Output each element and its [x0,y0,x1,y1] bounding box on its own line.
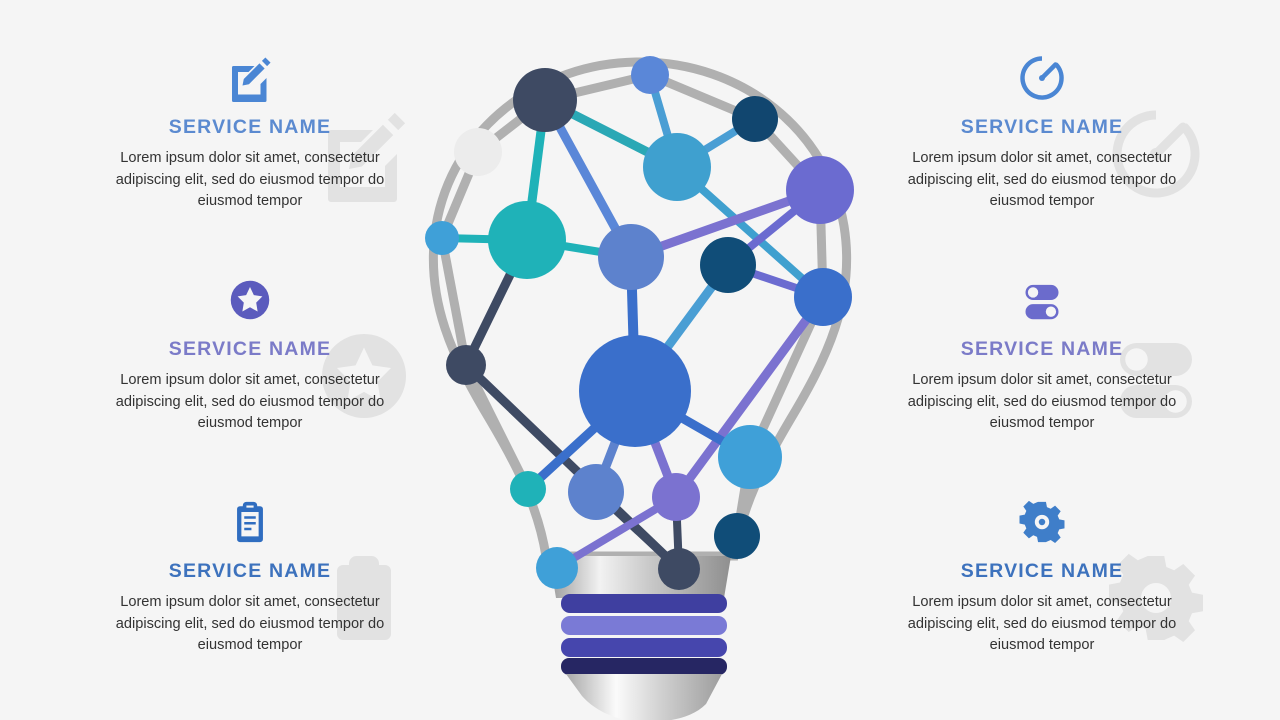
service-block-clipboard[interactable]: SERVICE NAME Lorem ipsum dolor sit amet,… [80,494,420,657]
network-node [652,473,700,521]
service-title: SERVICE NAME [872,560,1212,583]
network-node [794,268,852,326]
network-node [732,96,778,142]
service-description: Lorem ipsum dolor sit amet, consectetur … [80,148,420,213]
toggles-icon [872,272,1212,328]
gear-icon [872,494,1212,550]
service-block-edit[interactable]: SERVICE NAME Lorem ipsum dolor sit amet,… [80,50,420,213]
service-title: SERVICE NAME [80,116,420,139]
network-node [714,513,760,559]
service-block-gear[interactable]: SERVICE NAME Lorem ipsum dolor sit amet,… [872,494,1212,657]
service-description: Lorem ipsum dolor sit amet, consectetur … [80,370,420,435]
service-block-gauge[interactable]: SERVICE NAME Lorem ipsum dolor sit amet,… [872,50,1212,213]
service-title: SERVICE NAME [872,338,1212,361]
network-node [700,237,756,293]
bulb-screw-bands [561,594,727,675]
service-block-star[interactable]: SERVICE NAME Lorem ipsum dolor sit amet,… [80,272,420,435]
gauge-icon [872,50,1212,106]
infographic-canvas: SERVICE NAME Lorem ipsum dolor sit amet,… [0,0,1280,720]
network-node [631,56,669,94]
network-node [568,464,624,520]
service-title: SERVICE NAME [80,338,420,361]
network-node [513,68,577,132]
service-title: SERVICE NAME [80,560,420,583]
network-node [446,345,486,385]
service-description: Lorem ipsum dolor sit amet, consectetur … [80,592,420,657]
network-node [510,471,546,507]
service-title: SERVICE NAME [872,116,1212,139]
bulb-tip [566,674,722,720]
network-node [786,156,854,224]
network-node [658,548,700,590]
service-block-toggles[interactable]: SERVICE NAME Lorem ipsum dolor sit amet,… [872,272,1212,435]
star-circle-icon [80,272,420,328]
service-description: Lorem ipsum dolor sit amet, consectetur … [872,592,1212,657]
network-node [454,128,502,176]
edit-pencil-icon [80,50,420,106]
network-node [488,201,566,279]
network-node [598,224,664,290]
network-node [643,133,711,201]
network-node [425,221,459,255]
clipboard-icon [80,494,420,550]
network-node [718,425,782,489]
network-edge [466,365,528,489]
service-description: Lorem ipsum dolor sit amet, consectetur … [872,148,1212,213]
service-description: Lorem ipsum dolor sit amet, consectetur … [872,370,1212,435]
network-node [536,547,578,589]
network-node [579,335,691,447]
